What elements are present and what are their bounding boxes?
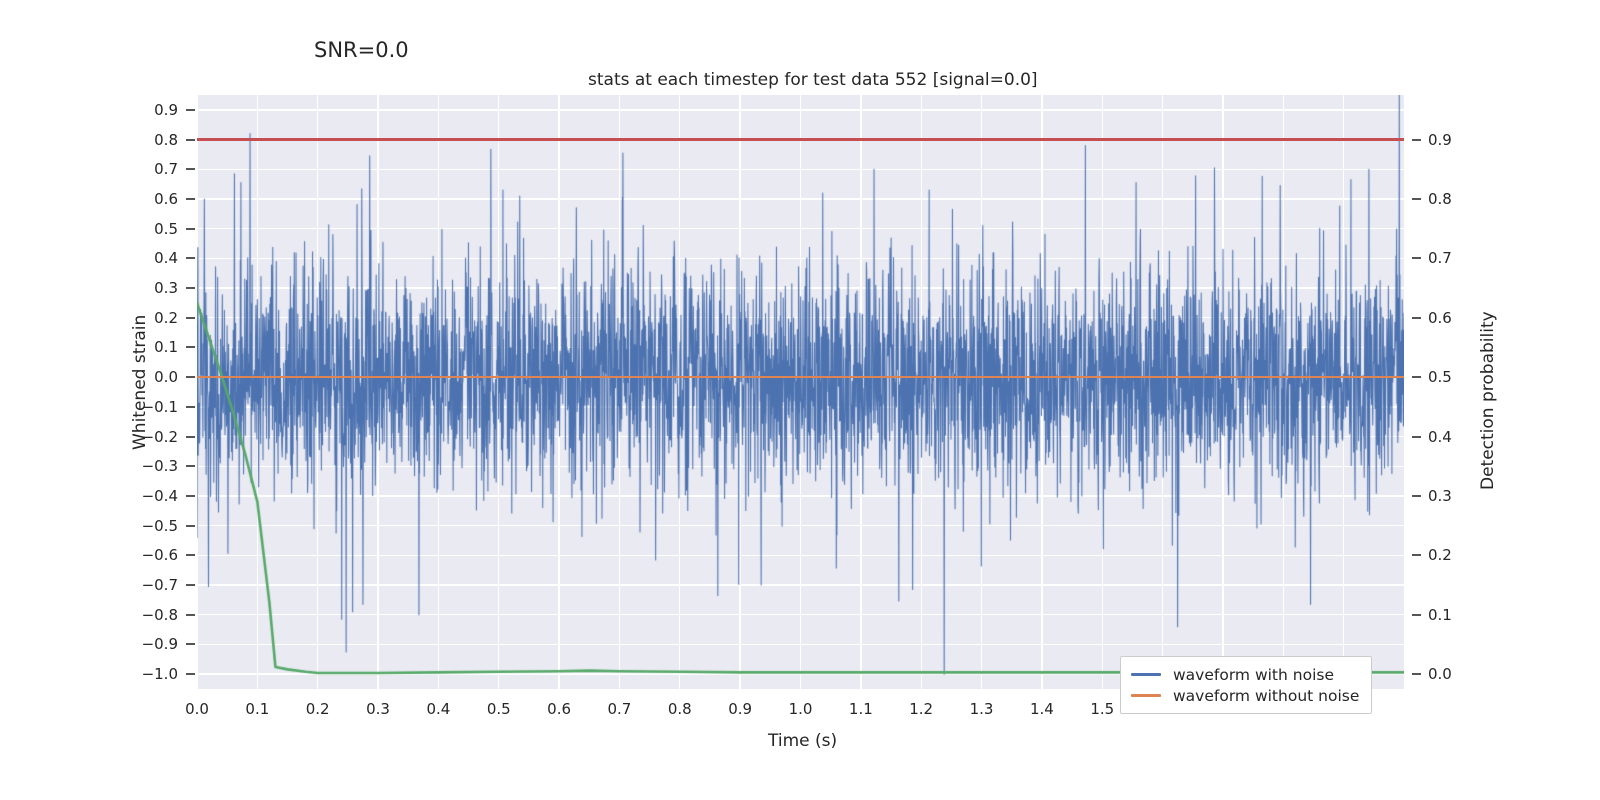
y-axis-right-tick-mark [1412, 317, 1421, 319]
y-axis-right-tick-mark [1412, 495, 1421, 497]
y-axis-right-tick-label: 0.5 [1428, 368, 1452, 386]
x-axis-tick-label: 1.2 [891, 700, 951, 718]
y-axis-left-tick-mark [186, 257, 195, 259]
y-axis-left-tick-label: 0.8 [120, 131, 178, 149]
detection-threshold-line [197, 138, 1404, 140]
y-axis-left-tick-mark [186, 465, 195, 467]
y-axis-left-tick-label: 0.6 [120, 190, 178, 208]
chart-title: stats at each timestep for test data 552… [588, 70, 1038, 90]
x-axis-tick-label: 0.2 [288, 700, 348, 718]
y-axis-left-tick-label: 0.5 [120, 220, 178, 238]
x-axis-tick-label: 0.6 [529, 700, 589, 718]
y-axis-left-tick-mark [186, 287, 195, 289]
x-axis-tick-label: 0.5 [469, 700, 529, 718]
x-axis-tick-label: 0.0 [167, 700, 227, 718]
figure: SNR=0.0 stats at each timestep for test … [0, 0, 1600, 800]
y-axis-right-tick-label: 0.0 [1428, 665, 1452, 683]
y-axis-right-tick-mark [1412, 139, 1421, 141]
y-axis-left-tick-label: −0.6 [120, 546, 178, 564]
x-axis-tick-label: 1.4 [1012, 700, 1072, 718]
y-axis-left-tick-mark [186, 406, 195, 408]
y-axis-left-tick-mark [186, 376, 195, 378]
legend-item[interactable]: waveform with noise [1131, 664, 1359, 685]
legend-label-waveform-without-noise: waveform without noise [1173, 687, 1359, 705]
y-axis-right-tick-label: 0.9 [1428, 131, 1452, 149]
y-axis-left-tick-mark [186, 139, 195, 141]
x-axis-tick-label: 0.9 [710, 700, 770, 718]
y-axis-left-tick-mark [186, 109, 195, 111]
y-axis-left-tick-mark [186, 317, 195, 319]
legend-item[interactable]: waveform without noise [1131, 685, 1359, 706]
y-axis-right-tick-mark [1412, 554, 1421, 556]
x-axis-tick-label: 1.0 [771, 700, 831, 718]
y-axis-left-tick-label: −0.3 [120, 457, 178, 475]
y-axis-left-tick-label: 0.9 [120, 101, 178, 119]
y-axis-left-tick-label: −0.4 [120, 487, 178, 505]
y-axis-left-tick-mark [186, 673, 195, 675]
y-axis-left-tick-mark [186, 198, 195, 200]
y-axis-left-label: Whitened strain [130, 315, 150, 450]
x-axis-tick-label: 1.3 [952, 700, 1012, 718]
x-axis-tick-label: 0.7 [589, 700, 649, 718]
y-axis-left-tick-mark [186, 643, 195, 645]
x-axis-tick-label: 0.8 [650, 700, 710, 718]
y-axis-left-tick-mark [186, 584, 195, 586]
y-axis-left-tick-label: −0.8 [120, 606, 178, 624]
y-axis-left-tick-mark [186, 554, 195, 556]
y-axis-left-tick-mark [186, 525, 195, 527]
y-axis-right-label: Detection probability [1478, 311, 1498, 490]
y-axis-left-tick-label: −0.5 [120, 517, 178, 535]
clean-waveform-line [197, 376, 1404, 378]
x-axis-tick-label: 1.1 [831, 700, 891, 718]
y-axis-left-tick-label: −0.7 [120, 576, 178, 594]
y-axis-right-tick-label: 0.6 [1428, 309, 1452, 327]
x-axis-tick-label: 0.4 [408, 700, 468, 718]
y-axis-left-tick-mark [186, 436, 195, 438]
legend-swatch-waveform-with-noise [1131, 673, 1161, 676]
y-axis-left-tick-mark [186, 346, 195, 348]
y-axis-right-tick-label: 0.7 [1428, 249, 1452, 267]
y-axis-left-tick-mark [186, 168, 195, 170]
y-axis-right-tick-mark [1412, 673, 1421, 675]
y-axis-left-tick-label: 0.4 [120, 249, 178, 267]
y-axis-left-tick-label: 0.3 [120, 279, 178, 297]
y-axis-left-tick-mark [186, 495, 195, 497]
x-axis-tick-label: 0.1 [227, 700, 287, 718]
y-axis-right-tick-mark [1412, 198, 1421, 200]
y-axis-left-tick-label: −1.0 [120, 665, 178, 683]
x-axis-label: Time (s) [768, 731, 837, 751]
y-axis-right-tick-label: 0.2 [1428, 546, 1452, 564]
y-axis-right-tick-label: 0.1 [1428, 606, 1452, 624]
y-axis-left-tick-label: −0.9 [120, 635, 178, 653]
y-axis-right-tick-label: 0.8 [1428, 190, 1452, 208]
y-axis-left-tick-mark [186, 614, 195, 616]
legend-label-waveform-with-noise: waveform with noise [1173, 666, 1334, 684]
y-axis-left-tick-mark [186, 228, 195, 230]
y-axis-right-tick-label: 0.3 [1428, 487, 1452, 505]
y-axis-right-tick-mark [1412, 614, 1421, 616]
y-axis-right-tick-mark [1412, 436, 1421, 438]
y-axis-right-tick-label: 0.4 [1428, 428, 1452, 446]
y-axis-right-tick-mark [1412, 376, 1421, 378]
legend-swatch-waveform-without-noise [1131, 694, 1161, 697]
figure-suptitle: SNR=0.0 [314, 38, 409, 62]
plot-area [197, 95, 1404, 689]
chart-legend[interactable]: waveform with noise waveform without noi… [1120, 656, 1372, 714]
y-axis-right-tick-mark [1412, 257, 1421, 259]
detection-probability-canvas [197, 95, 1404, 689]
y-axis-left-tick-label: 0.7 [120, 160, 178, 178]
x-axis-tick-label: 0.3 [348, 700, 408, 718]
